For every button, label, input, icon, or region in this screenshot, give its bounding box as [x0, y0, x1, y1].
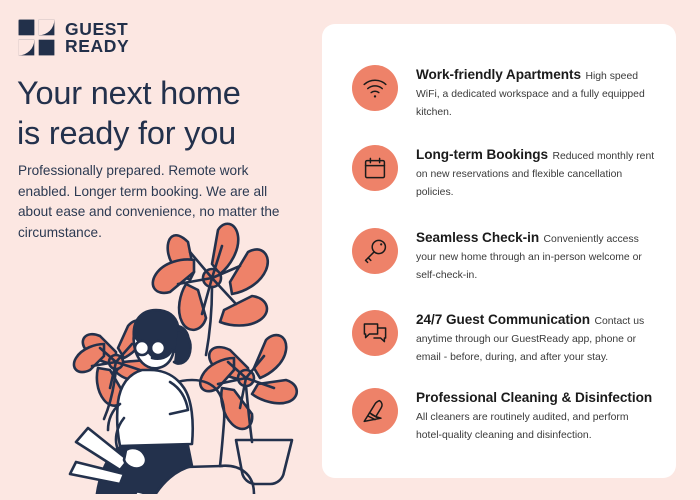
- feature-text: Professional Cleaning & Disinfection All…: [416, 388, 656, 443]
- feature-item-seamless-check-in[interactable]: Seamless Check-in Conveniently access yo…: [352, 228, 656, 283]
- hero-column: GUEST READY Your next home is ready for …: [0, 0, 322, 500]
- feature-title: Professional Cleaning & Disinfection: [416, 390, 652, 405]
- feature-text: Long-term Bookings Reduced monthly rent …: [416, 145, 656, 200]
- brand-logo[interactable]: GUEST READY: [17, 18, 129, 57]
- brand-wordmark: GUEST READY: [65, 21, 129, 55]
- brand-name-line2: READY: [65, 38, 129, 55]
- feature-item-long-term-bookings[interactable]: Long-term Bookings Reduced monthly rent …: [352, 145, 656, 200]
- feature-item-guest-communication[interactable]: 24/7 Guest Communication Contact us anyt…: [352, 310, 656, 365]
- page-title: Your next home is ready for you: [17, 74, 309, 154]
- headline-line-2: is ready for you: [17, 115, 236, 151]
- feature-text: Work-friendly Apartments High speed WiFi…: [416, 65, 656, 120]
- feature-text: 24/7 Guest Communication Contact us anyt…: [416, 310, 656, 365]
- feature-title: Long-term Bookings: [416, 147, 548, 162]
- headline-line-1: Your next home: [17, 75, 241, 111]
- hero-illustration: [30, 222, 320, 494]
- feature-item-work-friendly-apartments[interactable]: Work-friendly Apartments High speed WiFi…: [352, 65, 656, 120]
- calendar-icon: [352, 145, 398, 191]
- feature-item-professional-cleaning[interactable]: Professional Cleaning & Disinfection All…: [352, 388, 656, 443]
- feature-description: All cleaners are routinely audited, and …: [416, 412, 629, 441]
- features-panel: Work-friendly Apartments High speed WiFi…: [322, 24, 676, 478]
- guestready-grid-logo-icon: [17, 18, 56, 57]
- feature-title: Seamless Check-in: [416, 230, 539, 245]
- key-icon: [352, 228, 398, 274]
- feature-title: Work-friendly Apartments: [416, 67, 581, 82]
- feature-title: 24/7 Guest Communication: [416, 312, 590, 327]
- wifi-icon: [352, 65, 398, 111]
- brand-name-line1: GUEST: [65, 21, 129, 38]
- broom-icon: [352, 388, 398, 434]
- chat-bubbles-icon: [352, 310, 398, 356]
- feature-text: Seamless Check-in Conveniently access yo…: [416, 228, 656, 283]
